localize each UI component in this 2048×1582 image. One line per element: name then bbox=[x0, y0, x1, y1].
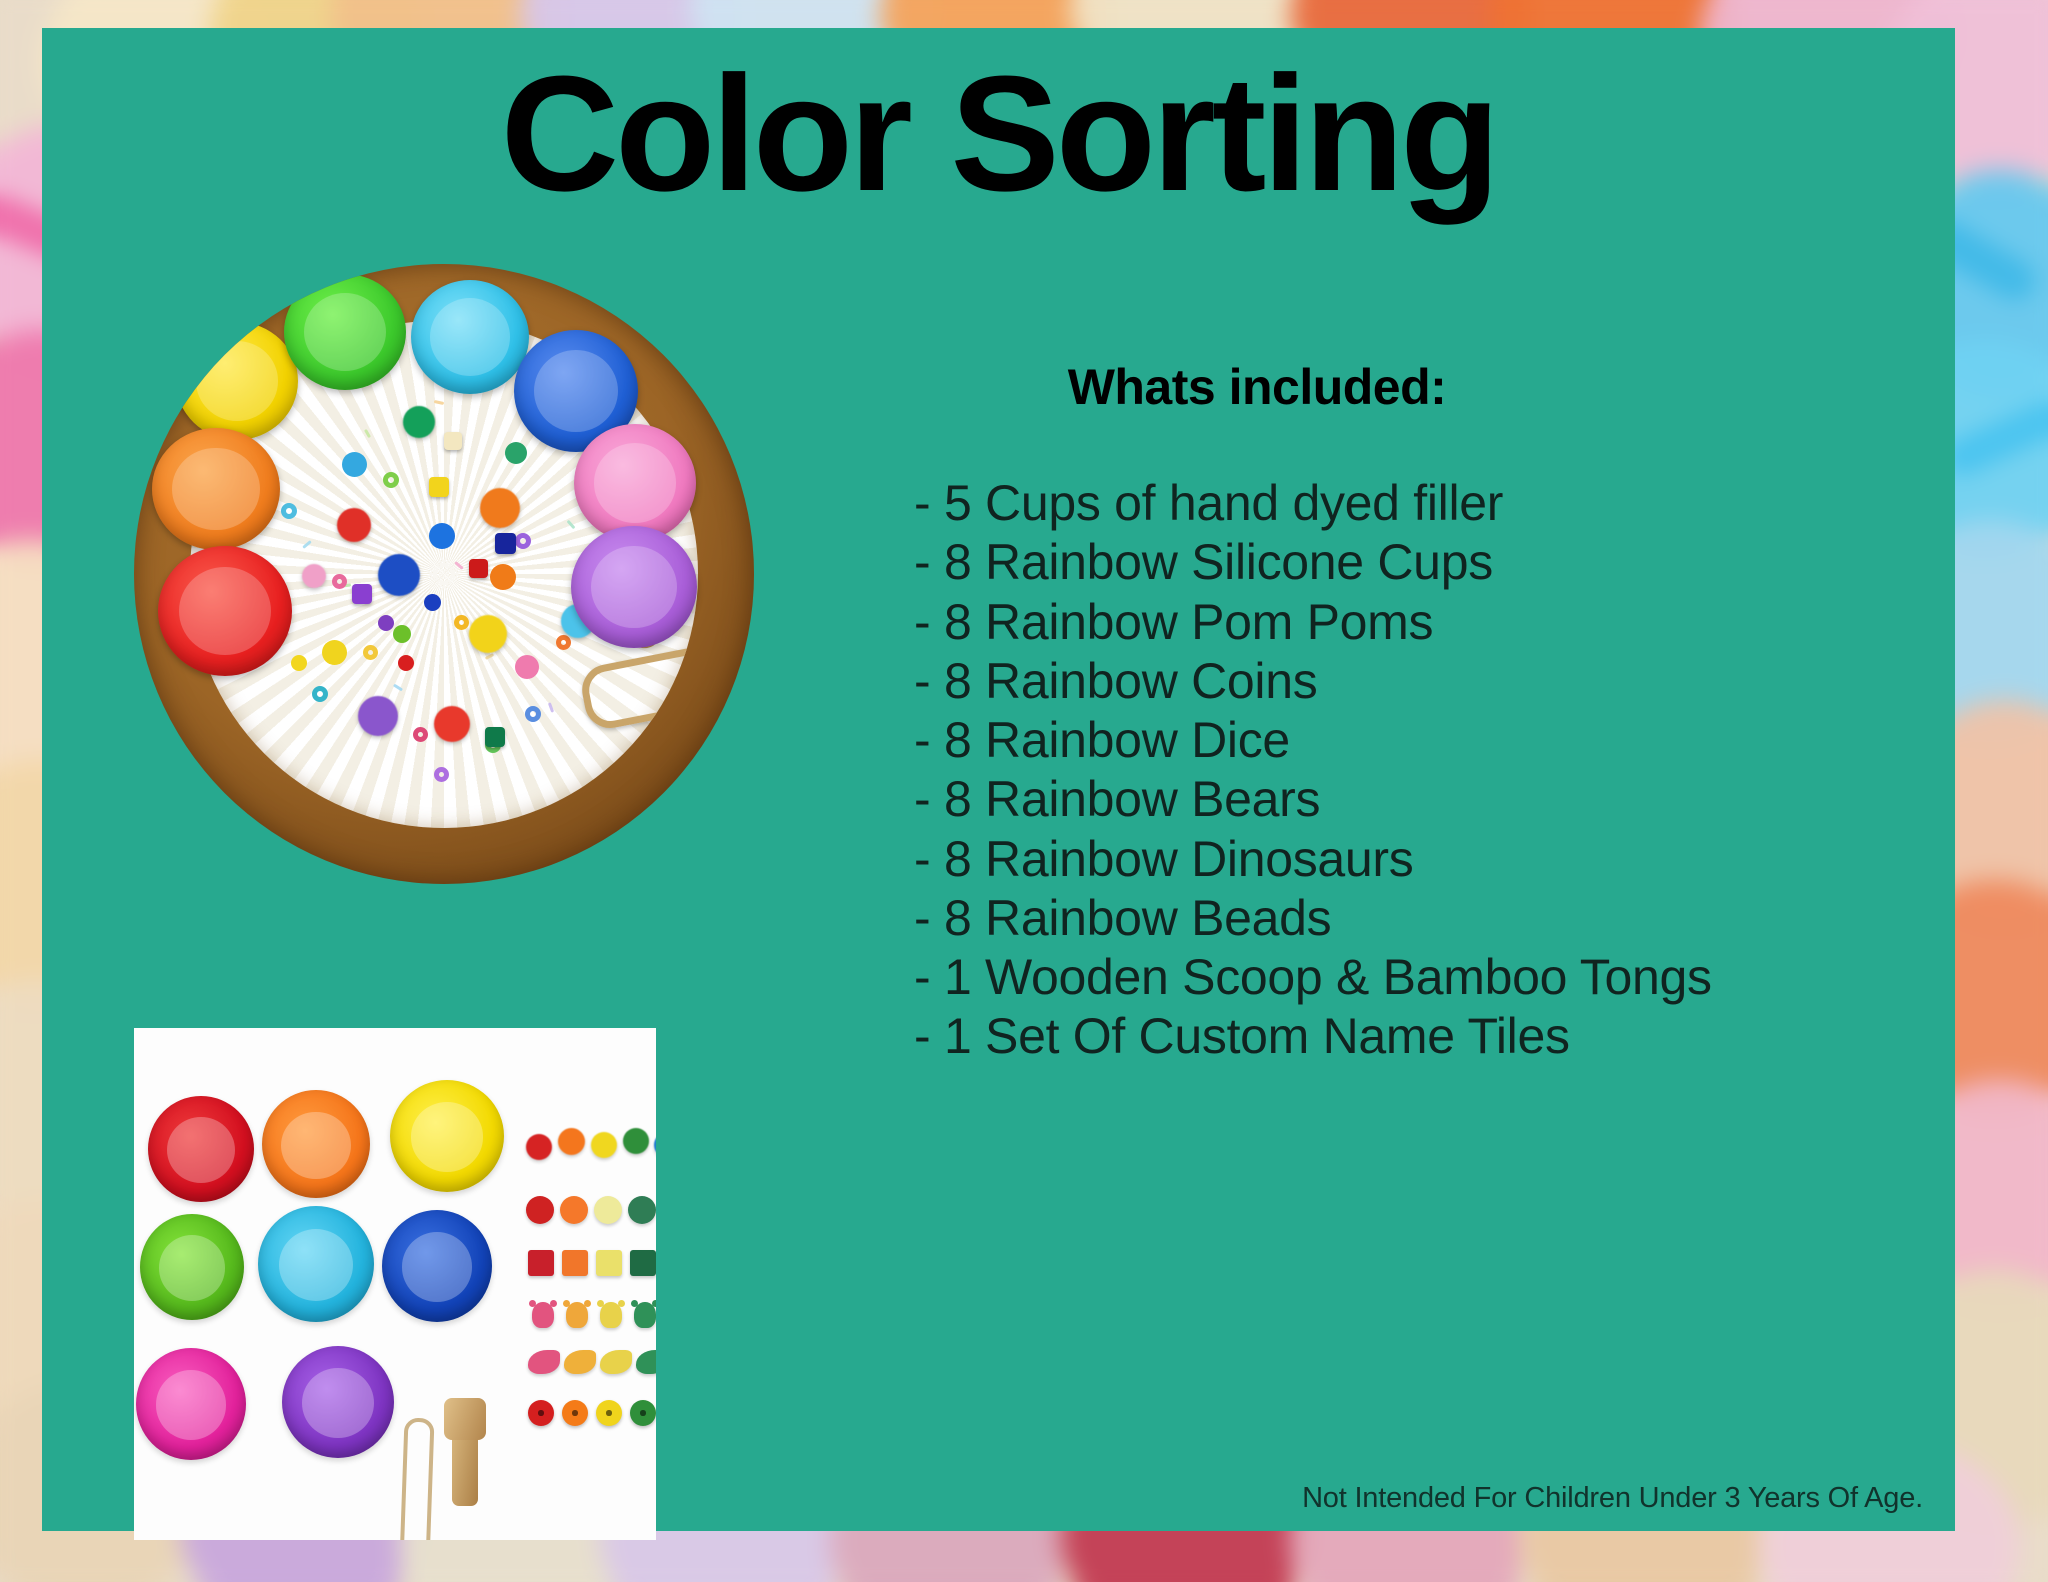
age-disclaimer: Not Intended For Children Under 3 Years … bbox=[42, 1482, 1955, 1515]
flat-cup-orange bbox=[262, 1090, 370, 1198]
flatlay-contents-photo bbox=[134, 1028, 656, 1540]
included-heading: Whats included: bbox=[842, 358, 1672, 416]
flat-die bbox=[562, 1250, 588, 1276]
list-item: - 8 Rainbow Dinosaurs bbox=[914, 830, 1942, 889]
flat-die bbox=[630, 1250, 656, 1276]
flat-bamboo-tongs bbox=[399, 1418, 434, 1540]
list-item: - 8 Rainbow Pom Poms bbox=[914, 593, 1942, 652]
list-item: - 1 Wooden Scoop & Bamboo Tongs bbox=[914, 948, 1942, 1007]
list-item: - 8 Rainbow Dice bbox=[914, 711, 1942, 770]
flat-bead bbox=[630, 1400, 656, 1426]
flat-bear bbox=[634, 1302, 656, 1328]
included-list: - 5 Cups of hand dyed filler - 8 Rainbow… bbox=[842, 474, 1942, 1067]
flat-bear bbox=[600, 1302, 622, 1328]
flat-cup-green bbox=[140, 1214, 244, 1320]
flat-dinosaur bbox=[636, 1350, 656, 1374]
flat-bead bbox=[528, 1400, 554, 1426]
flat-cup-cyan bbox=[258, 1206, 374, 1322]
flat-wooden-scoop-head bbox=[444, 1398, 486, 1440]
flat-cup-yellow bbox=[390, 1080, 504, 1192]
flat-coin bbox=[526, 1196, 554, 1224]
flat-cup-red bbox=[148, 1096, 254, 1202]
list-item: - 8 Rainbow Coins bbox=[914, 652, 1942, 711]
flat-dinosaur bbox=[600, 1350, 632, 1374]
silicone-cup-pink bbox=[574, 424, 696, 542]
poster-root: Color Sorting bbox=[0, 0, 2048, 1582]
flat-pompom bbox=[526, 1134, 552, 1160]
flat-bear bbox=[532, 1302, 554, 1328]
flat-bead bbox=[562, 1400, 588, 1426]
list-item: - 8 Rainbow Silicone Cups bbox=[914, 533, 1942, 592]
included-panel: Whats included: - 5 Cups of hand dyed fi… bbox=[842, 358, 1942, 1067]
flat-cup-blue bbox=[382, 1210, 492, 1322]
wooden-bowl bbox=[134, 264, 754, 884]
flat-dinosaur bbox=[528, 1350, 560, 1374]
flat-pompom bbox=[591, 1132, 617, 1158]
flat-die bbox=[596, 1250, 622, 1276]
flat-cup-purple bbox=[282, 1346, 394, 1458]
flat-dinosaur bbox=[564, 1350, 596, 1374]
flat-cup-magenta bbox=[136, 1348, 246, 1460]
flat-coin bbox=[560, 1196, 588, 1224]
list-item: - 8 Rainbow Beads bbox=[914, 889, 1942, 948]
silicone-cup-purple bbox=[571, 526, 697, 648]
silicone-cup-yellow bbox=[176, 322, 298, 440]
flat-coin bbox=[628, 1196, 656, 1224]
flat-pompom bbox=[654, 1132, 656, 1158]
flat-pompom bbox=[558, 1128, 585, 1155]
list-item: - 1 Set Of Custom Name Tiles bbox=[914, 1007, 1942, 1066]
silicone-cup-green bbox=[284, 274, 406, 390]
flat-coin bbox=[594, 1196, 622, 1224]
silicone-cup-cyan bbox=[411, 280, 529, 394]
page-title: Color Sorting bbox=[42, 52, 1955, 216]
list-item: - 8 Rainbow Bears bbox=[914, 770, 1942, 829]
flat-bead bbox=[596, 1400, 622, 1426]
silicone-cup-red bbox=[158, 546, 292, 676]
silicone-cup-orange bbox=[152, 428, 280, 550]
teal-card: Color Sorting bbox=[42, 28, 1955, 1531]
flat-die bbox=[528, 1250, 554, 1276]
list-item: - 5 Cups of hand dyed filler bbox=[914, 474, 1942, 533]
flat-pompom bbox=[623, 1128, 649, 1154]
flat-bear bbox=[566, 1302, 588, 1328]
wooden-sensory-bowl-photo bbox=[114, 276, 774, 776]
